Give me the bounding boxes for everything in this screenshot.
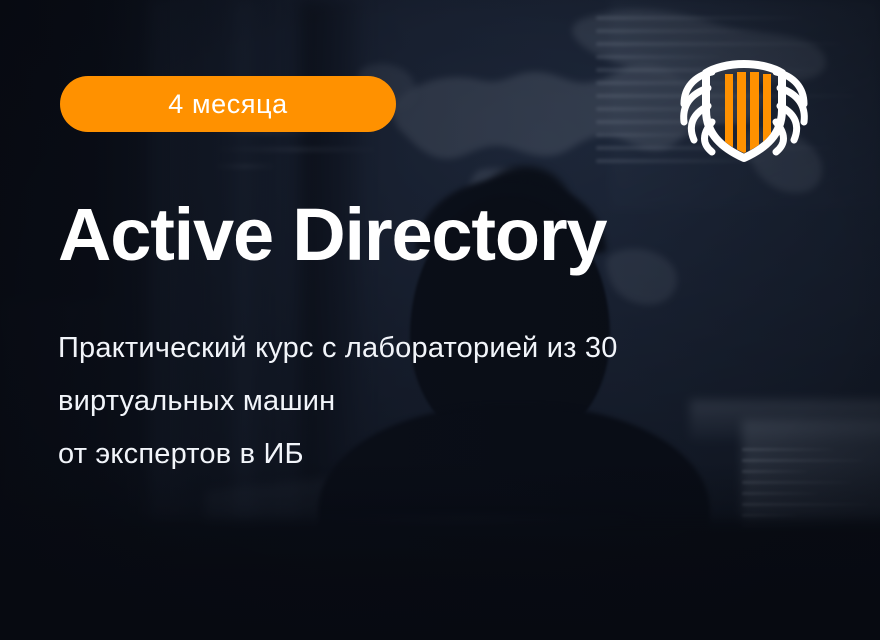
banner-content: 4 месяца Active Directory Практический к…	[0, 0, 880, 640]
page-title: Active Directory	[58, 198, 606, 272]
subtitle-line-2: виртуальных машин	[58, 375, 798, 428]
course-promo-banner: 4 месяца Active Directory Практический к…	[0, 0, 880, 640]
subtitle: Практический курс с лабораторией из 30 в…	[58, 322, 798, 481]
subtitle-line-1: Практический курс с лабораторией из 30	[58, 322, 798, 375]
subtitle-line-3: от экспертов в ИБ	[58, 428, 798, 481]
duration-badge-label: 4 месяца	[168, 89, 288, 120]
spider-shield-logo[interactable]	[668, 48, 820, 166]
duration-badge[interactable]: 4 месяца	[60, 76, 396, 132]
